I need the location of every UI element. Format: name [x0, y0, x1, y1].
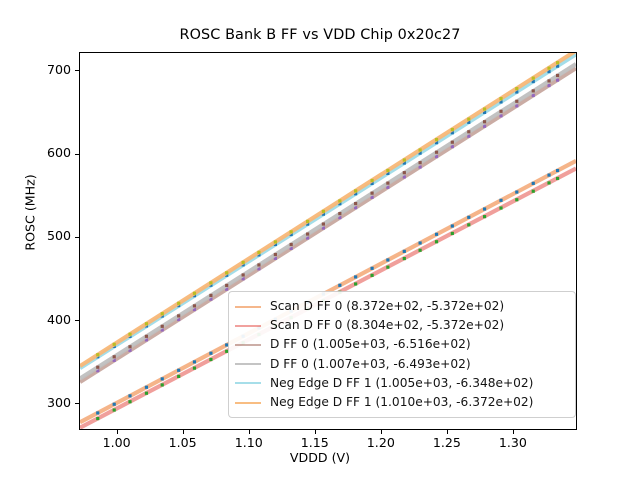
legend-color-swatch [235, 344, 261, 346]
data-point-marker [370, 274, 373, 277]
legend-color-swatch [235, 402, 261, 404]
legend-item[interactable]: D FF 0 (1.007e+03, -6.493e+02) [235, 355, 568, 374]
data-point-marker [403, 158, 406, 161]
data-point-marker [556, 79, 559, 82]
data-point-marker [451, 224, 454, 227]
x-tick-label: 1.00 [87, 436, 147, 449]
data-point-marker [290, 243, 293, 246]
data-point-marker [499, 110, 502, 113]
legend[interactable]: Scan D FF 0 (8.372e+02, -5.372e+02)Scan … [228, 291, 576, 418]
data-point-marker [499, 199, 502, 202]
data-point-marker [274, 253, 277, 256]
data-point-marker [113, 343, 116, 346]
x-tick-label: 1.10 [219, 436, 279, 449]
data-point-marker [515, 198, 518, 201]
x-tick-label: 1.05 [153, 436, 213, 449]
data-point-marker [354, 275, 357, 278]
legend-label: Scan D FF 0 (8.304e+02, -5.372e+02) [270, 316, 504, 335]
legend-item[interactable]: D FF 0 (1.005e+03, -6.516e+02) [235, 335, 568, 354]
data-point-marker [370, 179, 373, 182]
data-point-marker [322, 210, 325, 213]
x-tick-mark [249, 430, 250, 434]
y-tick-label: 700 [19, 64, 71, 76]
data-point-marker [435, 151, 438, 154]
data-point-marker [370, 267, 373, 270]
data-point-marker [467, 130, 470, 133]
data-point-marker [209, 294, 212, 297]
data-point-marker [306, 232, 309, 235]
data-point-marker [419, 161, 422, 164]
data-point-marker [435, 233, 438, 236]
data-point-marker [370, 192, 373, 195]
data-point-marker [515, 100, 518, 103]
data-point-marker [532, 77, 535, 80]
legend-color-swatch [235, 363, 261, 365]
data-point-marker [242, 261, 245, 264]
data-point-marker [177, 302, 180, 305]
data-point-marker [193, 292, 196, 295]
data-point-marker [225, 271, 228, 274]
x-tick-label: 1.30 [483, 436, 543, 449]
data-point-marker [96, 366, 99, 369]
x-tick-label: 1.15 [285, 436, 345, 449]
data-point-marker [451, 128, 454, 131]
legend-color-swatch [235, 382, 261, 384]
legend-label: Scan D FF 0 (8.372e+02, -5.372e+02) [270, 297, 504, 316]
data-point-marker [209, 352, 212, 355]
data-point-marker [128, 333, 131, 336]
data-point-marker [483, 215, 486, 218]
legend-color-swatch [235, 306, 261, 308]
x-axis-label: VDDD (V) [0, 450, 640, 465]
data-point-marker [467, 216, 470, 219]
data-point-marker [532, 89, 535, 92]
data-point-marker [386, 258, 389, 261]
data-point-marker [435, 240, 438, 243]
data-point-marker [257, 251, 260, 254]
y-tick-label: 300 [19, 397, 71, 409]
data-point-marker [145, 392, 148, 395]
data-point-marker [209, 358, 212, 361]
data-point-marker [306, 220, 309, 223]
data-point-marker [96, 411, 99, 414]
data-point-marker [354, 282, 357, 285]
data-point-marker [322, 222, 325, 225]
data-point-marker [532, 190, 535, 193]
data-point-marker [161, 377, 164, 380]
data-point-marker [209, 281, 212, 284]
data-point-marker [177, 314, 180, 317]
data-point-marker [556, 177, 559, 180]
data-point-marker [419, 249, 422, 252]
data-point-marker [547, 84, 550, 87]
data-point-marker [96, 417, 99, 420]
data-point-marker [467, 117, 470, 120]
x-tick-label: 1.25 [417, 436, 477, 449]
data-point-marker [145, 335, 148, 338]
data-point-marker [338, 199, 341, 202]
legend-label: D FF 0 (1.005e+03, -6.516e+02) [270, 335, 471, 354]
data-point-marker [128, 394, 131, 397]
data-point-marker [386, 266, 389, 269]
x-tick-label: 1.20 [351, 436, 411, 449]
data-point-marker [338, 284, 341, 287]
y-tick-label: 600 [19, 147, 71, 159]
data-point-marker [435, 138, 438, 141]
data-point-marker [556, 74, 559, 77]
data-point-marker [515, 87, 518, 90]
legend-label: Neg Edge D FF 1 (1.010e+03, -6.372e+02) [270, 393, 533, 412]
x-tick-mark [513, 430, 514, 434]
data-point-marker [386, 169, 389, 172]
data-point-marker [193, 367, 196, 370]
x-tick-mark [381, 430, 382, 434]
x-tick-mark [447, 430, 448, 434]
data-point-marker [499, 206, 502, 209]
data-point-marker [193, 360, 196, 363]
data-point-marker [177, 369, 180, 372]
chart-title: ROSC Bank B FF vs VDD Chip 0x20c27 [0, 27, 640, 43]
y-axis-label: ROSC (MHz) [23, 143, 38, 283]
data-point-marker [193, 304, 196, 307]
data-point-marker [499, 97, 502, 100]
data-point-marker [419, 148, 422, 151]
data-point-marker [547, 173, 550, 176]
x-tick-mark [315, 430, 316, 434]
data-point-marker [532, 94, 535, 97]
legend-color-swatch [235, 325, 261, 327]
x-tick-mark [183, 430, 184, 434]
data-point-marker [145, 386, 148, 389]
x-tick-mark [117, 430, 118, 434]
legend-label: D FF 0 (1.007e+03, -6.493e+02) [270, 355, 471, 374]
data-point-marker [354, 189, 357, 192]
data-point-marker [556, 61, 559, 64]
figure-canvas: ROSC Bank B FF vs VDD Chip 0x20c27 ROSC … [0, 0, 640, 480]
data-point-marker [547, 67, 550, 70]
legend-label: Neg Edge D FF 1 (1.005e+03, -6.348e+02) [270, 374, 533, 393]
data-point-marker [96, 353, 99, 356]
data-point-marker [145, 322, 148, 325]
data-point-marker [515, 104, 518, 107]
data-point-marker [161, 325, 164, 328]
data-point-marker [451, 141, 454, 144]
data-point-marker [483, 120, 486, 123]
data-point-marker [113, 408, 116, 411]
data-point-marker [467, 223, 470, 226]
data-point-marker [547, 79, 550, 82]
data-point-marker [242, 273, 245, 276]
data-point-marker [177, 375, 180, 378]
data-point-marker [483, 207, 486, 210]
data-point-marker [547, 181, 550, 184]
data-point-marker [483, 107, 486, 110]
data-point-marker [113, 403, 116, 406]
data-point-marker [386, 182, 389, 185]
y-tick-label: 500 [19, 230, 71, 242]
legend-item[interactable]: Scan D FF 0 (8.304e+02, -5.372e+02) [235, 316, 568, 335]
data-point-marker [451, 232, 454, 235]
data-point-marker [403, 257, 406, 260]
data-point-marker [403, 171, 406, 174]
legend-item[interactable]: Neg Edge D FF 1 (1.005e+03, -6.348e+02) [235, 374, 568, 393]
data-point-marker [128, 345, 131, 348]
data-point-marker [515, 190, 518, 193]
data-point-marker [274, 240, 277, 243]
legend-item[interactable]: Scan D FF 0 (8.372e+02, -5.372e+02) [235, 297, 568, 316]
data-point-marker [338, 212, 341, 215]
data-point-marker [419, 241, 422, 244]
y-tick-label: 400 [19, 314, 71, 326]
data-point-marker [556, 169, 559, 172]
data-point-marker [128, 400, 131, 403]
data-point-marker [225, 284, 228, 287]
data-point-marker [532, 182, 535, 185]
data-point-marker [354, 202, 357, 205]
data-point-marker [161, 312, 164, 315]
data-point-marker [161, 383, 164, 386]
data-point-marker [113, 355, 116, 358]
legend-item[interactable]: Neg Edge D FF 1 (1.010e+03, -6.372e+02) [235, 393, 568, 412]
data-point-marker [290, 230, 293, 233]
data-point-marker [257, 263, 260, 266]
data-point-marker [403, 250, 406, 253]
